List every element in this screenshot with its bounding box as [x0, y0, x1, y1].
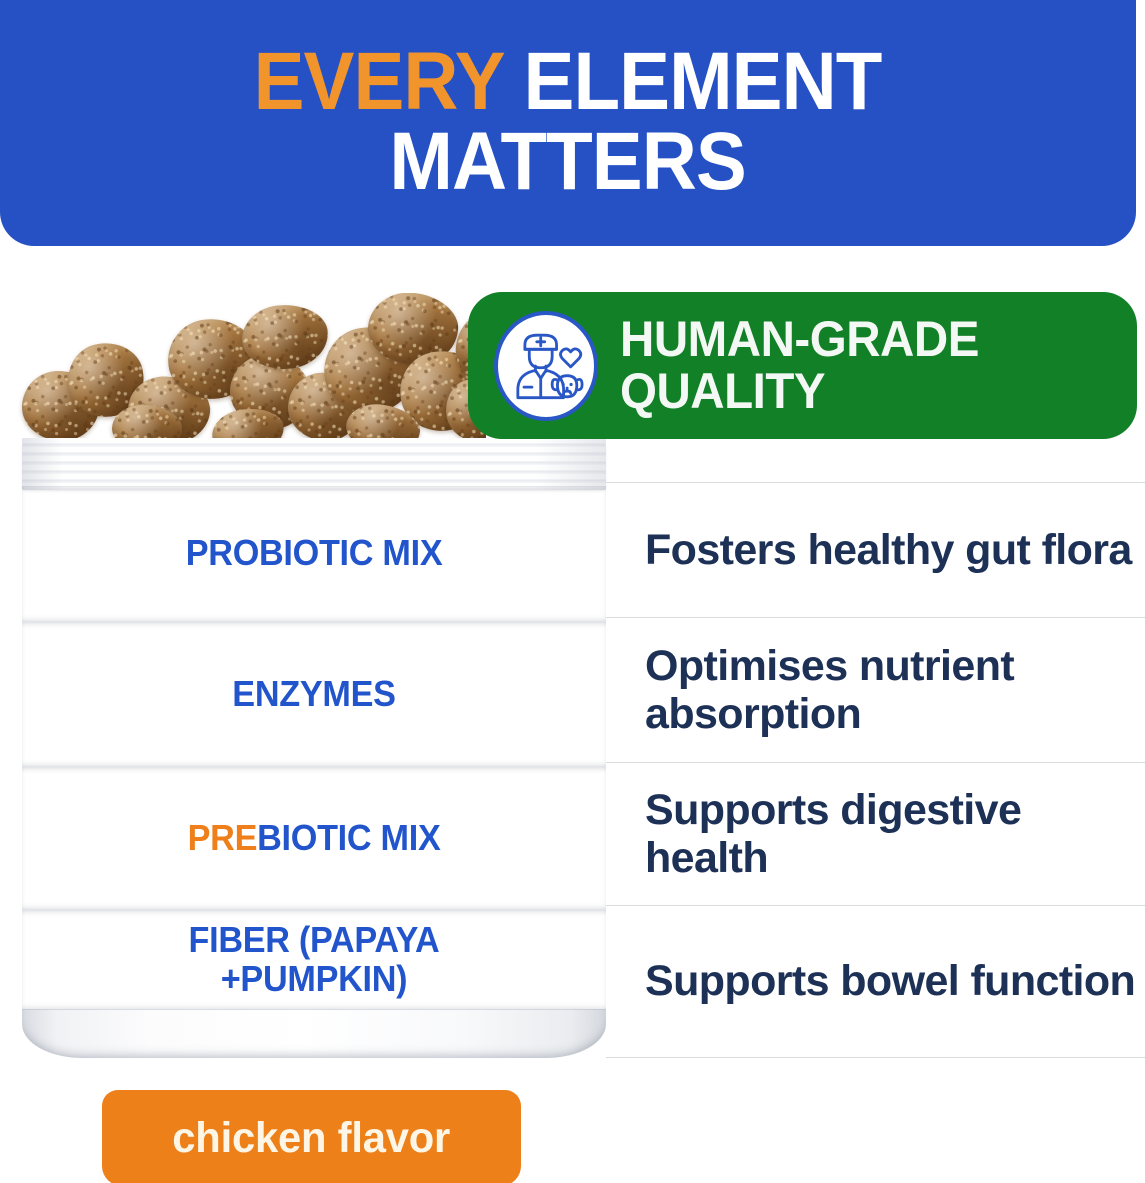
- badge-label: HUMAN-GRADE QUALITY: [620, 314, 979, 417]
- ingredient-label-main-0: PROBIOTIC MIX: [186, 532, 443, 573]
- vet-with-dog-and-heart-icon: [494, 311, 598, 421]
- benefit-row-1: Optimises nutrient absorption: [606, 617, 1145, 762]
- ingredient-label-1: ENZYMES: [232, 675, 395, 713]
- jar-base: [22, 1009, 606, 1058]
- ingredient-panel-0: PROBIOTIC MIX: [22, 486, 606, 621]
- header-title-line-1: EVERY ELEMENT: [254, 42, 882, 122]
- ingredient-panel-1: ENZYMES: [22, 621, 606, 766]
- ingredient-label-0: PROBIOTIC MIX: [186, 534, 443, 572]
- badge-label-line-1: HUMAN-GRADE: [620, 311, 979, 367]
- header-title-line-2: MATTERS: [390, 122, 746, 202]
- benefit-text-0: Fosters healthy gut flora: [606, 526, 1136, 574]
- benefit-text-3: Supports bowel function: [606, 957, 1139, 1005]
- ingredient-label-main-2: BIOTIC MIX: [257, 817, 440, 858]
- jar-lid: [22, 438, 606, 490]
- badge-label-line-2: QUALITY: [620, 363, 825, 419]
- ingredient-label-3: FIBER (PAPAYA +PUMPKIN): [105, 921, 523, 997]
- supplement-jar: PROBIOTIC MIX ENZYMES PREBIOTIC MIX FIBE…: [22, 438, 606, 1058]
- header-title-rest: ELEMENT: [504, 36, 882, 127]
- human-grade-quality-badge: HUMAN-GRADE QUALITY: [468, 292, 1137, 439]
- benefit-row-2: Supports digestive health: [606, 762, 1145, 905]
- ingredient-label-main-3: FIBER (PAPAYA +PUMPKIN): [189, 919, 440, 998]
- ingredient-panel-2: PREBIOTIC MIX: [22, 766, 606, 909]
- benefit-text-2: Supports digestive health: [606, 786, 1145, 882]
- ingredient-label-accent-2: PRE: [188, 817, 257, 858]
- product-infographic: EVERY ELEMENT MATTERS PROBIOTIC MIX ENZY…: [0, 0, 1145, 1183]
- kibble-pile-image: [16, 293, 486, 441]
- ingredient-label-2: PREBIOTIC MIX: [188, 819, 441, 857]
- ingredient-panel-3: FIBER (PAPAYA +PUMPKIN): [22, 909, 606, 1009]
- benefit-row-0: Fosters healthy gut flora: [606, 482, 1145, 617]
- ingredient-label-main-1: ENZYMES: [232, 673, 395, 714]
- benefits-column: Fosters healthy gut flora Optimises nutr…: [606, 482, 1145, 1058]
- benefit-text-1: Optimises nutrient absorption: [606, 642, 1145, 738]
- flavor-tag-label: chicken flavor: [173, 1114, 451, 1163]
- flavor-tag: chicken flavor: [102, 1090, 521, 1183]
- benefit-row-3: Supports bowel function: [606, 905, 1145, 1058]
- header-banner: EVERY ELEMENT MATTERS: [0, 0, 1136, 246]
- header-title-accent: EVERY: [254, 36, 504, 127]
